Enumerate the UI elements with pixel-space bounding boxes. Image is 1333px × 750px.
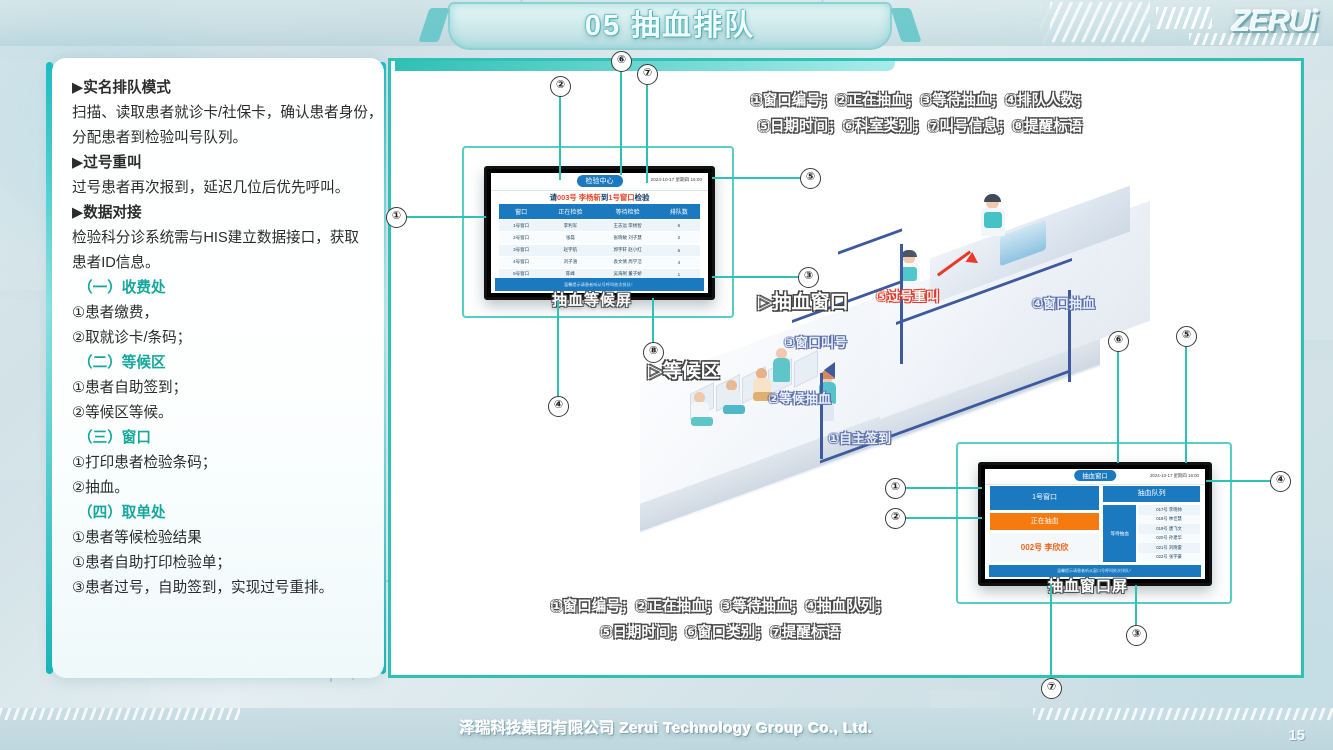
waiting-table-header: 窗口 正在检验 等待检验 排队数 — [499, 204, 700, 219]
table-cell: 4 — [658, 260, 700, 265]
footer-company: 泽瑞科技集团有限公司 Zerui Technology Group Co., L… — [0, 717, 1333, 738]
left-panel-line: ①患者自助打印检验单； — [72, 551, 368, 576]
left-panel-line: ②等候区等候。 — [72, 401, 368, 426]
frame-edge-right — [1301, 58, 1304, 678]
table-cell: 陈峰 — [543, 271, 597, 277]
waiting-screen-dept: 检验中心 — [577, 175, 623, 187]
window-screen-body: 1号窗口 正在抽血 002号 李欣欣 抽血队列 等待抽血 017号 李晓帅018… — [990, 486, 1200, 562]
label-step-4: ④窗口抽血 — [1032, 293, 1095, 312]
list-item: 022号 张宇豪 — [1138, 553, 1200, 563]
table-cell: 1 — [658, 272, 700, 277]
table-cell: 吴海舸 董子娇 — [597, 271, 657, 277]
leader-ws-3 — [712, 276, 800, 278]
leader-ws-7 — [646, 83, 648, 183]
call-number: 003号 李杨斩 — [557, 193, 601, 202]
left-panel-line: ①患者自助签到； — [72, 376, 368, 401]
left-panel-line: ②抽血。 — [72, 476, 368, 501]
window-screen-topbar: 抽血窗口 2024-10-17 星期四 16:00 — [985, 469, 1205, 485]
table-cell: 1号窗口 — [499, 223, 543, 229]
callout-ws-3: ③ — [798, 267, 819, 288]
table-row: 4号窗口刘子涵袁文倩 周学洁4 — [499, 257, 700, 268]
label-step-1: ①自主签到 — [828, 428, 891, 447]
queue-body: 等待抽血 017号 李晓帅018号 林佳慧019号 唐飞文020号 孙建华021… — [1103, 505, 1200, 562]
leader-win-4 — [1206, 480, 1272, 482]
brand-logo: ZERUi — [1158, 3, 1323, 43]
leader-ws-5 — [712, 177, 802, 179]
leader-win-3 — [1135, 585, 1137, 627]
flow-arrow-left — [824, 362, 835, 378]
callout-ws-8: ⑧ — [643, 342, 664, 363]
frame-edge-left — [388, 58, 391, 678]
window-screen-dept: 抽血窗口 — [1074, 470, 1116, 481]
window-current-patient: 002号 李欣欣 — [990, 533, 1099, 562]
left-panel-line: 检验科分诊系统需与HIS建立数据接口，获取 — [72, 226, 368, 251]
table-cell: 4号窗口 — [499, 259, 543, 265]
left-text-panel: ▶实名排队模式扫描、读取患者就诊卡/社保卡，确认患者身份，分配患者到检验叫号队列… — [52, 58, 384, 678]
waiting-table-body: 1号窗口李利军王志远 李杨智62号窗口张磊张晓敏 刘子慧23号窗口赵宇航郭宇轩 … — [499, 220, 700, 280]
table-cell: 2 — [658, 235, 700, 240]
leader-win-5 — [1185, 345, 1187, 463]
callout-win-1: ① — [885, 478, 906, 499]
left-panel-line: （三）窗口 — [72, 426, 368, 451]
left-panel-line: 过号患者再次报到，延迟几位后优先呼叫。 — [72, 176, 368, 201]
callout-ws-1: ① — [386, 207, 407, 228]
table-cell: 王志远 李杨智 — [597, 223, 657, 229]
leader-win-2 — [904, 517, 982, 519]
waiting-screen-topbar: 检验中心 2024-10-17 星期四 16:00 — [491, 173, 708, 191]
note-bottom-line-1: ①窗口编号；②正在抽血；③等待抽血；④抽血队列； — [500, 594, 940, 620]
table-cell: 赵宇航 — [543, 247, 597, 253]
callout-ws-6: ⑥ — [611, 51, 632, 72]
left-panel-line: ▶过号重叫 — [72, 151, 368, 176]
left-panel-line: （二）等候区 — [72, 351, 368, 376]
table-row: 3号窗口赵宇航郭宇轩 赵小红6 — [499, 245, 700, 256]
left-panel-line: （一）收费处 — [72, 276, 368, 301]
callout-win-3: ③ — [1126, 625, 1147, 646]
logo-hatch-icon — [1156, 7, 1212, 29]
leader-win-1 — [904, 487, 982, 489]
col-window: 窗口 — [499, 207, 543, 216]
left-panel-line: ①患者等候检验结果 — [72, 526, 368, 551]
call-prefix: 请 — [550, 193, 557, 202]
window-number: 1号窗口 — [990, 486, 1099, 510]
logo-hatch-bottom-icon — [1189, 33, 1319, 45]
table-cell: 2号窗口 — [499, 235, 543, 241]
frame-edge-bottom — [388, 675, 1304, 678]
label-blood-window: ▷抽血窗口 — [758, 287, 849, 314]
table-cell: 5号窗口 — [499, 271, 543, 277]
callout-win-4: ④ — [1270, 471, 1291, 492]
note-top: ①窗口编号；②正在抽血；③等待抽血；④排队人数； ⑤日期时间；⑥科室类别；⑦叫号… — [700, 88, 1140, 140]
left-panel-line: 扫描、读取患者就诊卡/社保卡，确认患者身份， — [72, 101, 368, 126]
leader-ws-8 — [652, 298, 654, 344]
page-title: 05 抽血排队 — [450, 4, 890, 48]
list-item: 017号 李晓帅 — [1138, 505, 1200, 515]
window-screen-right-col: 抽血队列 等待抽血 017号 李晓帅018号 林佳慧019号 唐飞文020号 孙… — [1103, 486, 1200, 562]
window-screen-monitor[interactable]: 抽血窗口 2024-10-17 星期四 16:00 1号窗口 正在抽血 002号… — [978, 462, 1212, 586]
table-cell: 张晓敏 刘子慧 — [597, 235, 657, 241]
list-item: 020号 孙建华 — [1138, 534, 1200, 544]
note-top-line-2: ⑤日期时间；⑥科室类别；⑦叫号信息；⑧提醒标语 — [700, 114, 1140, 140]
col-in-progress: 正在检验 — [543, 207, 597, 216]
flow-segment-7 — [820, 373, 823, 459]
left-panel-line: 分配患者到检验叫号队列。 — [72, 126, 368, 151]
note-bottom-line-2: ⑤日期时间；⑥窗口类别；⑦提醒标语 — [500, 620, 940, 646]
waiting-screen-caption: 抽血等候屏 — [552, 289, 632, 310]
table-row: 1号窗口李利军王志远 李杨智6 — [499, 220, 700, 231]
leader-win-6 — [1117, 350, 1119, 463]
page-number: 15 — [1288, 727, 1305, 744]
left-panel-line: ③患者过号，自助签到，实现过号重排。 — [72, 576, 368, 601]
table-cell: 郭宇轩 赵小红 — [597, 247, 657, 253]
left-panel-line: 患者ID信息。 — [72, 251, 368, 276]
queue-list: 017号 李晓帅018号 林佳慧019号 唐飞文020号 孙建华021号 刘晓雷… — [1138, 505, 1200, 562]
window-screen-left-col: 1号窗口 正在抽血 002号 李欣欣 — [990, 486, 1099, 562]
table-cell: 袁文倩 周学洁 — [597, 259, 657, 265]
window-screen-caption: 抽血窗口屏 — [1048, 575, 1128, 596]
left-panel-content: ▶实名排队模式扫描、读取患者就诊卡/社保卡，确认患者身份，分配患者到检验叫号队列… — [72, 76, 368, 664]
waiting-screen-table: 窗口 正在检验 等待检验 排队数 1号窗口李利军王志远 李杨智62号窗口张磊张晓… — [499, 204, 700, 280]
label-step-2: ②等候抽血 — [768, 388, 831, 407]
window-screen-datetime: 2024-10-17 星期四 16:00 — [1150, 473, 1199, 479]
left-panel-line: ▶数据对接 — [72, 201, 368, 226]
table-cell: 刘子涵 — [543, 259, 597, 265]
left-panel-line: ▶实名排队模式 — [72, 76, 368, 101]
col-queue-count: 排队数 — [658, 207, 700, 216]
header-hatch — [1050, 2, 1150, 42]
label-step-5: ⑤过号重叫 — [876, 286, 939, 305]
leader-ws-1 — [406, 216, 486, 218]
left-panel-line: ①打印患者检验条码； — [72, 451, 368, 476]
leader-ws-6 — [620, 70, 622, 175]
left-panel-line: ②取就诊卡/条码； — [72, 326, 368, 351]
waiting-screen-display: 检验中心 2024-10-17 星期四 16:00 请003号 李杨斩到1号窗口… — [491, 173, 708, 293]
leader-ws-2 — [559, 95, 561, 180]
leader-ws-4 — [557, 300, 559, 398]
callout-win-2: ② — [885, 508, 906, 529]
callout-ws-5: ⑤ — [800, 168, 821, 189]
callout-ws-4: ④ — [548, 396, 569, 417]
note-bottom: ①窗口编号；②正在抽血；③等待抽血；④抽血队列； ⑤日期时间；⑥窗口类别；⑦提醒… — [500, 594, 940, 646]
waiting-screen-monitor[interactable]: 检验中心 2024-10-17 星期四 16:00 请003号 李杨斩到1号窗口… — [484, 166, 715, 300]
leader-win-7 — [1050, 584, 1052, 680]
callout-win-6: ⑥ — [1108, 331, 1129, 352]
callout-ws-7: ⑦ — [637, 64, 658, 85]
waiting-screen-call-line: 请003号 李杨斩到1号窗口检验 — [491, 192, 708, 203]
waiting-screen-datetime: 2024-10-17 星期四 16:00 — [651, 177, 702, 183]
list-item: 018号 林佳慧 — [1138, 515, 1200, 525]
table-cell: 李利军 — [543, 223, 597, 229]
window-status: 正在抽血 — [990, 513, 1099, 530]
table-row: 2号窗口张磊张晓敏 刘子慧2 — [499, 232, 700, 243]
table-cell: 张磊 — [543, 235, 597, 241]
queue-title: 抽血队列 — [1103, 486, 1200, 502]
col-waiting: 等待检验 — [597, 207, 657, 216]
queue-waiting-label: 等待抽血 — [1103, 505, 1136, 562]
title-plate: 05 抽血排队 — [448, 2, 892, 50]
table-cell: 6 — [658, 223, 700, 228]
callout-win-5: ⑤ — [1176, 326, 1197, 347]
left-panel-line: ①患者缴费， — [72, 301, 368, 326]
note-top-line-1: ①窗口编号；②正在抽血；③等待抽血；④排队人数； — [700, 88, 1140, 114]
call-tail: 检验 — [635, 193, 650, 202]
list-item: 021号 刘晓雷 — [1138, 543, 1200, 553]
left-panel-line: （四）取单处 — [72, 501, 368, 526]
table-cell: 6 — [658, 248, 700, 253]
app-header: 05 抽血排队 ZERUi — [0, 0, 1333, 52]
callout-win-7: ⑦ — [1041, 678, 1062, 699]
call-window: 1号窗口 — [608, 193, 634, 202]
table-cell: 3号窗口 — [499, 247, 543, 253]
callout-ws-2: ② — [550, 76, 571, 97]
window-screen-display: 抽血窗口 2024-10-17 星期四 16:00 1号窗口 正在抽血 002号… — [985, 469, 1205, 579]
label-step-3: ③窗口叫号 — [784, 332, 847, 351]
list-item: 019号 唐飞文 — [1138, 524, 1200, 534]
